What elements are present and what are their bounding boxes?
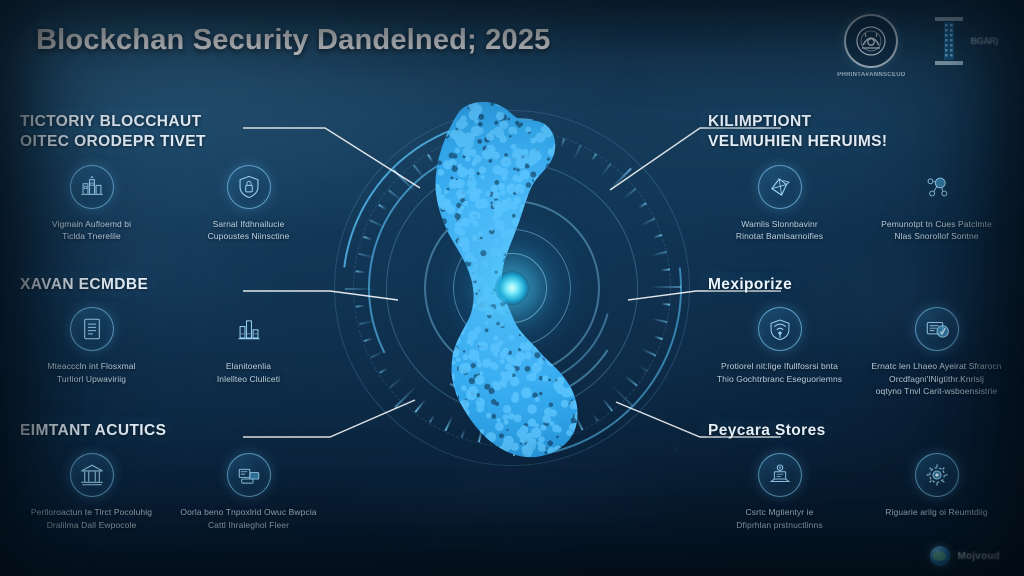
section-heading-line2: OITEC ORODEPR TIVET [20, 132, 320, 152]
feature-caption: Wamlis SlonnbavinrRinotat Bamlsarnoifies [736, 218, 823, 243]
feature-caption: Protiorel nit:lige Ifullfosrsi bntaThio … [717, 360, 842, 385]
section-left-3: EIMTANT ACUTICSPerlloroactun te Tlrct Po… [20, 421, 320, 531]
section-heading[interactable]: EIMTANT ACUTICS [20, 421, 320, 441]
feature-caption: Oorla beno Tnpoxlrid Owuc BwpciaCattl Ih… [180, 506, 316, 531]
section-heading-line2: VELMUHIEN HERUIMS! [708, 132, 1008, 152]
caption-line-2: Dfiprhlan prstnuctlinns [736, 519, 822, 531]
section-right-3: Peycara StoresCsrtc Mgtientyr ieDfiprhla… [708, 421, 1008, 531]
padlock-shield-icon[interactable] [227, 165, 271, 209]
feature-caption: Mteacccln int FlosxmalTurliorl Upwavirii… [47, 360, 135, 385]
feature-caption: Ernatc len Lhaeo Ayeirat SfrarocnOrcdfag… [871, 360, 1001, 397]
wifi-shield-icon[interactable] [758, 307, 802, 351]
origami-fold-icon[interactable] [758, 165, 802, 209]
document-lines-icon[interactable] [70, 307, 114, 351]
caption-line-2: Dralilma Dall Ewpocole [31, 519, 152, 531]
globe-icon [930, 546, 950, 566]
caption-line-2: Ticlda Tnerelile [52, 230, 131, 242]
caption-line-1: Csrtc Mgtientyr ie [736, 506, 822, 518]
caption-line-2: Rinotat Bamlsarnoifies [736, 230, 823, 242]
section-items: Csrtc Mgtientyr ieDfiprhlan prstnuctlinn… [708, 453, 1008, 531]
caption-line-1: Elanitoenlia [217, 360, 280, 372]
section-items: Mteacccln int FlosxmalTurliorl Upwavirii… [20, 307, 320, 385]
section-heading[interactable]: Mexiporize [708, 275, 1008, 295]
seal-logo-caption: PHRINTA#ANNSCEUD [837, 72, 905, 79]
monolith-column-icon [932, 14, 966, 68]
section-heading[interactable]: TICTORIY BLOCCHAUTOITEC ORODEPR TIVET [20, 112, 320, 153]
id-card-icon[interactable] [915, 307, 959, 351]
caption-line-1: Oorla beno Tnpoxlrid Owuc Bwpcia [180, 506, 316, 518]
feature-item[interactable]: Vigmain Aufloemd biTiclda Tnerelile [20, 165, 163, 243]
feature-caption: Vigmain Aufloemd biTiclda Tnerelile [52, 218, 131, 243]
section-right-1: KILIMPTIONTVELMUHIEN HERUIMS!Wamlis Slon… [708, 112, 1008, 243]
infographic-poster: Blockchan Security Dandelned; 2025 PHRIN… [0, 0, 1024, 576]
seal-badge-icon [844, 14, 898, 68]
feature-item[interactable]: Csrtc Mgtientyr ieDfiprhlan prstnuctlinn… [708, 453, 851, 531]
caption-line-1: Protiorel nit:lige Ifullfosrsi bnta [717, 360, 842, 372]
bank-building-icon[interactable] [70, 165, 114, 209]
section-heading[interactable]: XAVAN ECMDBE [20, 275, 320, 295]
feature-item[interactable]: Ernatc len Lhaeo Ayeirat SfrarocnOrcdfag… [865, 307, 1008, 397]
feature-item[interactable]: Mteacccln int FlosxmalTurliorl Upwavirii… [20, 307, 163, 385]
section-heading-line1: EIMTANT ACUTICS [20, 422, 166, 439]
feature-item[interactable]: Wamlis SlonnbavinrRinotat Bamlsarnoifies [708, 165, 851, 243]
monolith-logo-caption: BGAR) [971, 36, 999, 46]
feature-item[interactable]: Pemunotpt tn Cues PatclmteNlas Snorollof… [865, 165, 1008, 243]
section-heading-line1: XAVAN ECMDBE [20, 276, 148, 293]
gear-cog-icon[interactable] [915, 453, 959, 497]
server-network-icon[interactable] [227, 453, 271, 497]
caption-line-1: Pemunotpt tn Cues Patclmte [881, 218, 992, 230]
caption-line-1: Sarnal Ifdhnailucie [208, 218, 290, 230]
feature-caption: Sarnal IfdhnailucieCupoustes Niinsctine [208, 218, 290, 243]
column-monolith-logo: BGAR) [932, 14, 999, 68]
feature-item[interactable]: Protiorel nit:lige Ifullfosrsi bntaThio … [708, 307, 851, 397]
hub-core-glow [495, 271, 529, 305]
caption-line-1: Riguarie arilg oi Reumtdiig [885, 506, 987, 518]
caption-line-1: Ernatc len Lhaeo Ayeirat Sfrarocn [871, 360, 1001, 372]
feature-caption: Csrtc Mgtientyr ieDfiprhlan prstnuctlinn… [736, 506, 822, 531]
caption-line-1: Mteacccln int Flosxmal [47, 360, 135, 372]
section-items: Perlloroactun te Tlrct PocoluhigDralilma… [20, 453, 320, 531]
feature-item[interactable]: Perlloroactun te Tlrct PocoluhigDralilma… [20, 453, 163, 531]
caption-line-2: Cupoustes Niinsctine [208, 230, 290, 242]
section-items: Vigmain Aufloemd biTiclda TnerelileSarna… [20, 165, 320, 243]
caption-line-1: Perlloroactun te Tlrct Pocoluhig [31, 506, 152, 518]
caption-line-2: Thio Gochtrbranc Eseguoriemns [717, 373, 842, 385]
feature-item[interactable]: Riguarie arilg oi Reumtdiig [865, 453, 1008, 531]
network-nodes-icon[interactable] [915, 165, 959, 209]
section-items: Protiorel nit:lige Ifullfosrsi bntaThio … [708, 307, 1008, 397]
feature-caption: Riguarie arilg oi Reumtdiig [885, 506, 987, 518]
section-heading[interactable]: KILIMPTIONTVELMUHIEN HERUIMS! [708, 112, 1008, 153]
caption-line-2: Cattl Ihraleghol Fleer [180, 519, 316, 531]
section-heading-line1: TICTORIY BLOCCHAUT [20, 113, 201, 130]
footer-badge: Mojvoud [930, 546, 1000, 566]
caption-line-1: Vigmain Aufloemd bi [52, 218, 131, 230]
feature-item[interactable]: Oorla beno Tnpoxlrid Owuc BwpciaCattl Ih… [177, 453, 320, 531]
section-left-2: XAVAN ECMDBEMteacccln int FlosxmalTurlio… [20, 275, 320, 385]
feature-item[interactable]: Sarnal IfdhnailucieCupoustes Niinsctine [177, 165, 320, 243]
caption-line-2: Nlas Snorollof Sontne [881, 230, 992, 242]
section-items: Wamlis SlonnbavinrRinotat Bamlsarnoifies… [708, 165, 1008, 243]
caption-line-2: Inlellteo Cluliceti [217, 373, 280, 385]
caption-line-3: oqtyno Tnvl Carit-wsboensistrie [871, 385, 1001, 397]
caption-line-1: Wamlis Slonnbavinr [736, 218, 823, 230]
section-heading[interactable]: Peycara Stores [708, 421, 1008, 441]
circular-seal-logo: PHRINTA#ANNSCEUD [837, 14, 905, 79]
section-left-1: TICTORIY BLOCCHAUTOITEC ORODEPR TIVETVig… [20, 112, 320, 243]
section-heading-line1: Mexiporize [708, 276, 792, 293]
feature-caption: ElanitoenliaInlellteo Cluliceti [217, 360, 280, 385]
caption-line-2: Orcdfagni'lNigtithr.Knrislj [871, 373, 1001, 385]
feature-item[interactable]: ElanitoenliaInlellteo Cluliceti [177, 307, 320, 385]
feature-caption: Perlloroactun te Tlrct PocoluhigDralilma… [31, 506, 152, 531]
page-title: Blockchan Security Dandelned; 2025 [36, 24, 550, 57]
section-heading-line1: Peycara Stores [708, 422, 826, 439]
feature-caption: Pemunotpt tn Cues PatclmteNlas Snorollof… [881, 218, 992, 243]
classical-bank-icon[interactable] [70, 453, 114, 497]
bar-chart-icon[interactable] [227, 307, 271, 351]
caption-line-2: Turliorl Upwaviriig [47, 373, 135, 385]
logo-group: PHRINTA#ANNSCEUD BGAR) [837, 14, 998, 79]
footer-badge-text: Mojvoud [957, 551, 1000, 562]
section-heading-line1: KILIMPTIONT [708, 113, 811, 130]
section-right-2: MexiporizeProtiorel nit:lige Ifullfosrsi… [708, 275, 1008, 397]
laptop-user-icon[interactable] [758, 453, 802, 497]
